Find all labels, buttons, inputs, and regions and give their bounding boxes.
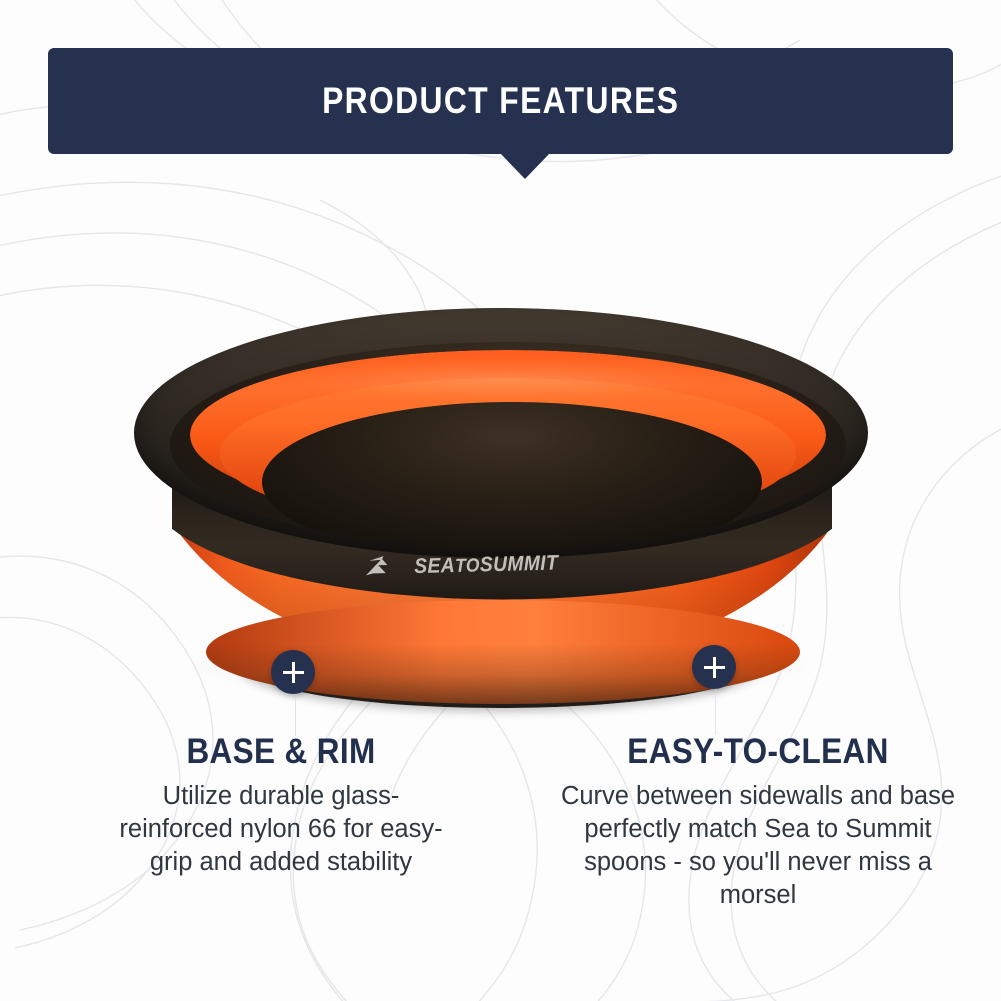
product-features-infographic: PRODUCT FEATURES SEATOSUMMIT (0, 0, 1001, 1001)
hotspot-easy-to-clean[interactable] (692, 645, 736, 689)
brand-word-to: TO (455, 555, 480, 577)
banner-pointer-triangle (500, 153, 550, 179)
brand-wordmark: SEATOSUMMIT (414, 552, 558, 580)
plus-icon (704, 657, 725, 678)
header-banner-body: PRODUCT FEATURES (48, 48, 953, 154)
leader-line-easy-to-clean (715, 689, 716, 735)
hotspot-base-rim[interactable] (271, 650, 315, 694)
feature-body-base-rim: Utilize durable glass-reinforced nylon 6… (116, 780, 446, 879)
feature-base-rim: BASE & RIM Utilize durable glass-reinfor… (46, 732, 516, 912)
feature-body-easy-to-clean: Curve between sidewalls and base perfect… (543, 780, 973, 912)
feature-caption-row: BASE & RIM Utilize durable glass-reinfor… (0, 732, 1001, 912)
feature-title-easy-to-clean: EASY-TO-CLEAN (555, 732, 962, 772)
mountain-arrow-mark-icon (364, 554, 401, 581)
brand-logo: SEATOSUMMIT (364, 545, 631, 585)
bowl-highlight (290, 360, 720, 400)
feature-easy-to-clean: EASY-TO-CLEAN Curve between sidewalls an… (532, 732, 984, 912)
plus-icon (283, 662, 304, 683)
brand-word-sea: SEA (414, 554, 455, 578)
bowl-interior (170, 342, 846, 548)
header-banner: PRODUCT FEATURES (48, 48, 953, 154)
bowl-inner-floor (262, 402, 762, 548)
brand-word-summit: SUMMIT (480, 552, 559, 577)
product-image: SEATOSUMMIT (128, 300, 873, 712)
feature-title-base-rim: BASE & RIM (70, 732, 493, 772)
leader-line-base (295, 694, 296, 736)
bowl-outer-rim (134, 308, 868, 558)
page-title: PRODUCT FEATURES (322, 80, 679, 122)
